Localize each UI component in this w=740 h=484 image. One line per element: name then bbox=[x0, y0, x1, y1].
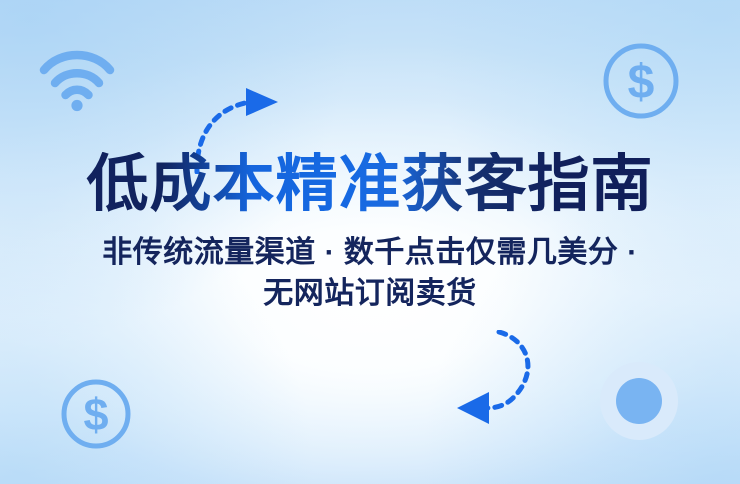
circle-dot-icon bbox=[596, 358, 682, 444]
page-title: 低成本精准获客指南 bbox=[0, 152, 740, 217]
svg-text:$: $ bbox=[628, 56, 655, 109]
dollar-circle-icon-top-right: $ bbox=[600, 40, 682, 122]
wifi-icon bbox=[38, 44, 116, 114]
dollar-circle-icon-bottom-left: $ bbox=[58, 376, 134, 452]
subtitle-line-2: 无网站订阅卖货 bbox=[60, 274, 680, 315]
poster-canvas: $ $ 低成本精准获客指南 非传统流量渠道 · 数千点击仅需几美分 bbox=[0, 0, 740, 484]
headline-block: 低成本精准获客指南 非传统流量渠道 · 数千点击仅需几美分 · 无网站订阅卖货 bbox=[0, 152, 740, 315]
page-subtitle: 非传统流量渠道 · 数千点击仅需几美分 · 无网站订阅卖货 bbox=[60, 233, 680, 315]
svg-text:$: $ bbox=[83, 389, 108, 440]
subtitle-line-1: 非传统流量渠道 · 数千点击仅需几美分 · bbox=[60, 233, 680, 274]
curved-arrow-left-icon bbox=[443, 330, 563, 438]
